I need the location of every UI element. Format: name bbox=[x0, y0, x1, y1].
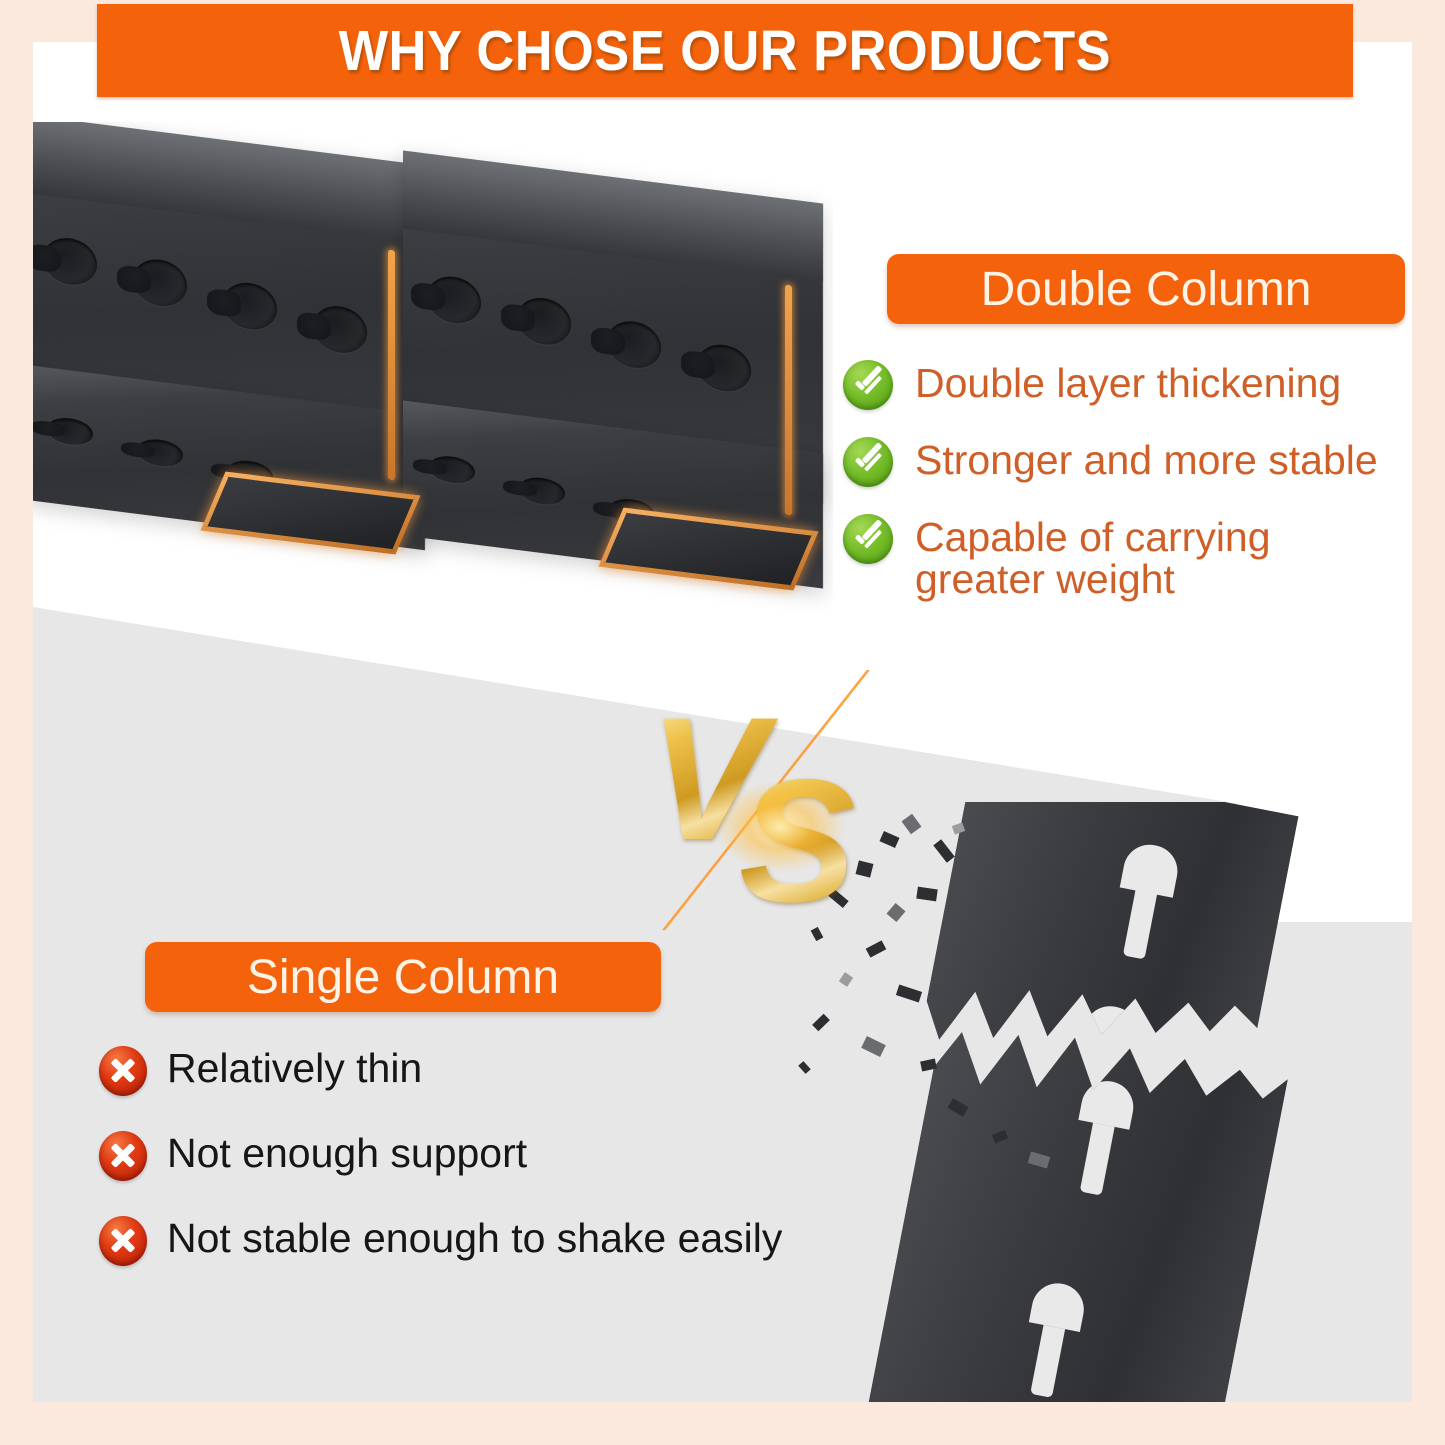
check-circle-icon bbox=[843, 514, 893, 564]
infographic-frame: V S Double Column Single Column Double l… bbox=[0, 0, 1445, 1445]
double-column-badge-label: Double Column bbox=[981, 262, 1312, 317]
keyhole-slot bbox=[1081, 1002, 1142, 1055]
list-item-label: Double layer thickening bbox=[893, 360, 1341, 404]
single-column-badge-label: Single Column bbox=[247, 950, 559, 1005]
list-item: Relatively thin bbox=[99, 1046, 899, 1096]
double-column-badge: Double Column bbox=[887, 254, 1405, 324]
broken-post-lower-piece bbox=[868, 1012, 1288, 1402]
list-item-label: Stronger and more stable bbox=[893, 437, 1378, 481]
single-column-badge: Single Column bbox=[145, 942, 661, 1012]
versus-graphic: V S bbox=[623, 670, 923, 930]
edge-highlight-left bbox=[388, 250, 395, 481]
list-item-label: Relatively thin bbox=[147, 1046, 422, 1089]
keyhole-slot bbox=[1029, 1279, 1088, 1332]
list-item: Not stable enough to shake easily bbox=[99, 1216, 899, 1266]
debris-shard bbox=[812, 1014, 830, 1032]
single-column-drawback-list: Relatively thin Not enough support Not s… bbox=[99, 1046, 899, 1301]
list-item: Double layer thickening bbox=[843, 360, 1412, 410]
list-item-label: Capable of carrying greater weight bbox=[893, 514, 1315, 600]
list-item-label: Not stable enough to shake easily bbox=[147, 1216, 782, 1259]
x-circle-icon bbox=[99, 1216, 147, 1266]
check-circle-icon bbox=[843, 360, 893, 410]
debris-shard bbox=[896, 985, 922, 1003]
debris-shard bbox=[866, 940, 887, 957]
versus-letter-s: S bbox=[739, 754, 1039, 929]
check-circle-icon bbox=[843, 437, 893, 487]
edge-highlight-right bbox=[785, 285, 792, 516]
list-item-label: Not enough support bbox=[147, 1131, 527, 1174]
header-banner: WHY CHOSE OUR PRODUCTS bbox=[97, 4, 1353, 97]
content-panel: V S Double Column Single Column Double l… bbox=[33, 42, 1412, 1402]
page-title: WHY CHOSE OUR PRODUCTS bbox=[339, 18, 1111, 84]
list-item: Capable of carrying greater weight bbox=[843, 514, 1412, 600]
double-column-steel-posts-photo bbox=[33, 122, 833, 622]
x-circle-icon bbox=[99, 1131, 147, 1181]
keyhole-slot bbox=[1078, 1077, 1137, 1130]
list-item: Not enough support bbox=[99, 1131, 899, 1181]
x-circle-icon bbox=[99, 1046, 147, 1096]
debris-shard bbox=[839, 972, 853, 987]
double-column-feature-list: Double layer thickening Stronger and mor… bbox=[843, 360, 1412, 627]
list-item: Stronger and more stable bbox=[843, 437, 1412, 487]
keyhole-slot bbox=[1120, 840, 1182, 897]
